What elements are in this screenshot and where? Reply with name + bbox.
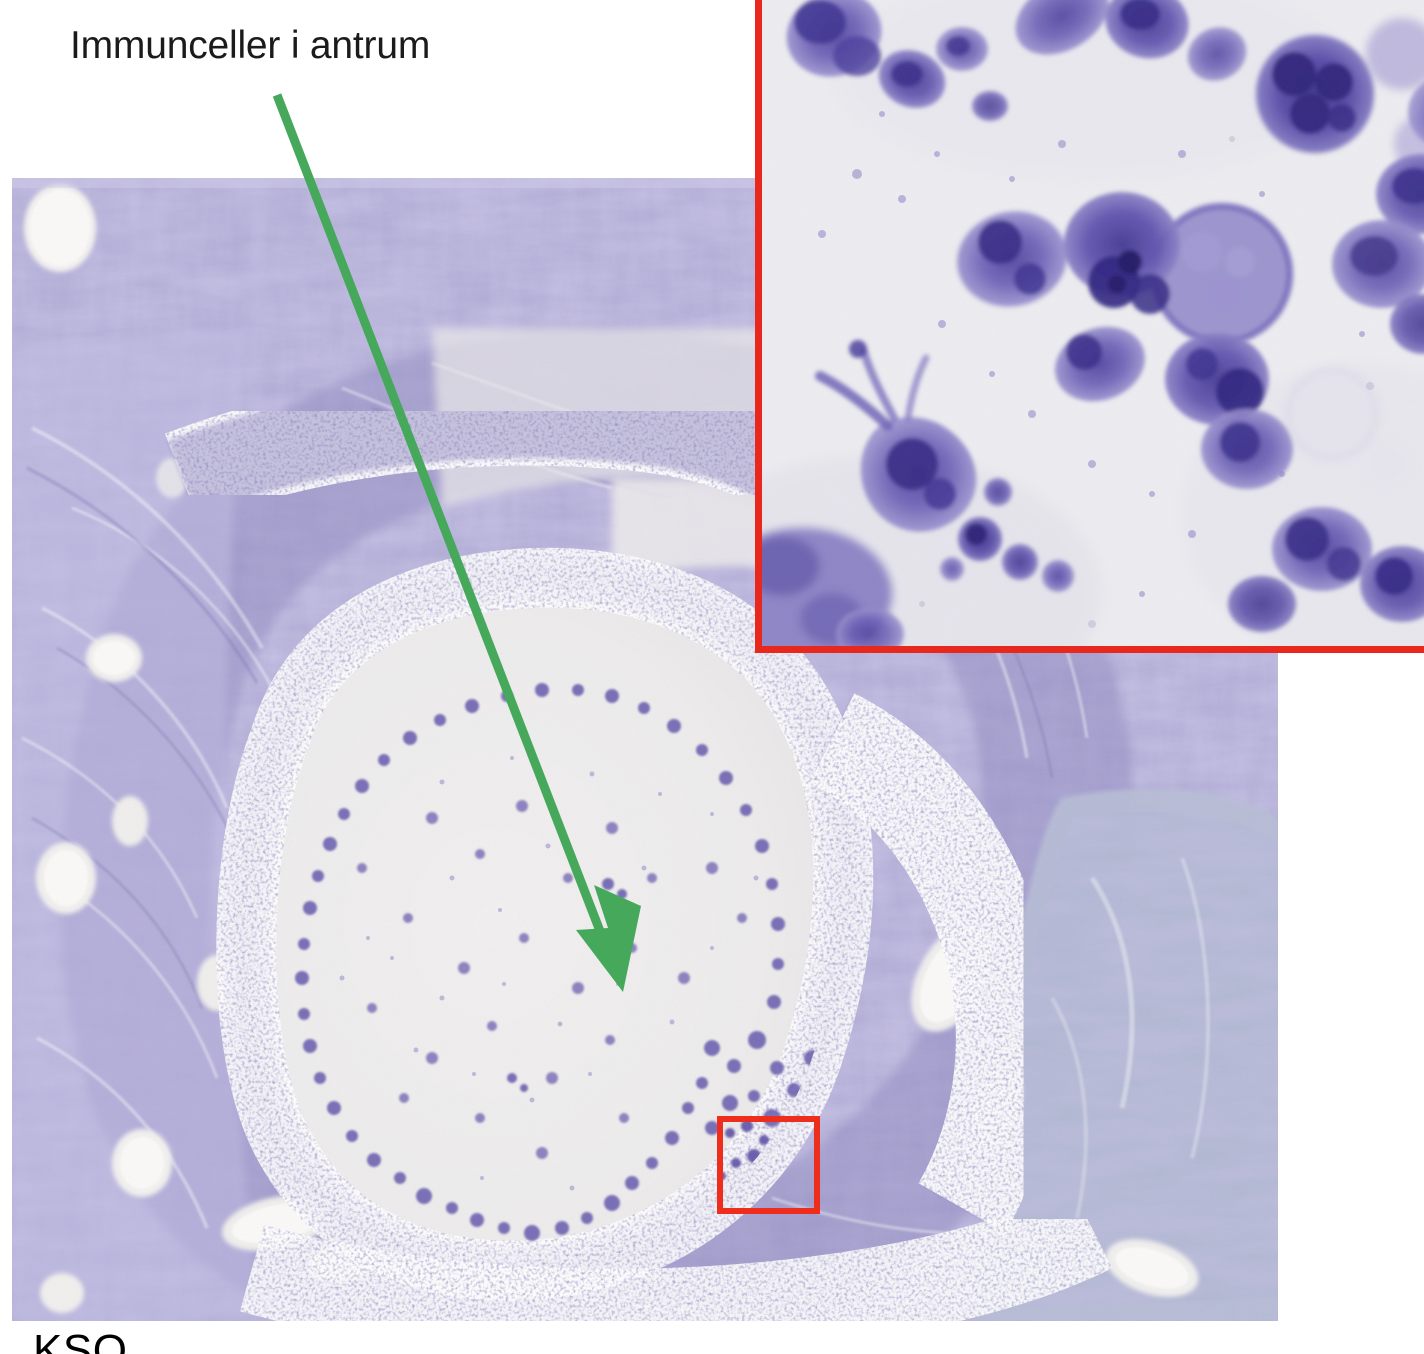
inset-micrograph[interactable] — [755, 0, 1424, 653]
inset-micrograph-image — [762, 0, 1424, 646]
slide-canvas: Immunceller i antrum KSO — [0, 0, 1424, 1354]
footer-label: KSO — [33, 1326, 127, 1354]
page-title: Immunceller i antrum — [70, 22, 430, 70]
